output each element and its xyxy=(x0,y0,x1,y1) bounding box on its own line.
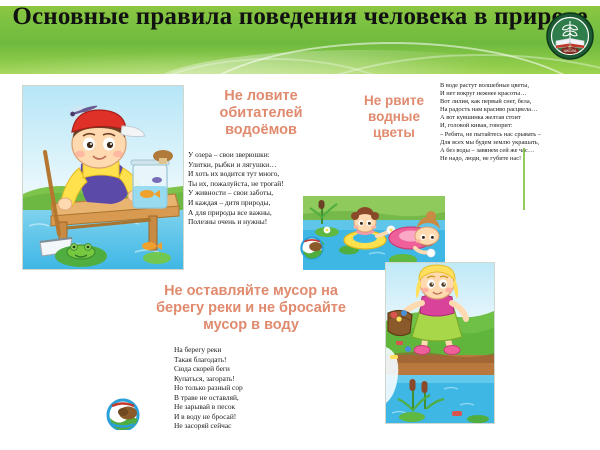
water-lily xyxy=(324,227,331,234)
heading-do-not-pick-flowers: Не рвите водные цветы xyxy=(348,93,440,141)
illustration-boy-fishing xyxy=(22,85,184,270)
slide-canvas: Основные правила поведения человека в пр… xyxy=(0,0,600,450)
right-lower-margin xyxy=(496,262,600,450)
illustration-girl-littering xyxy=(385,262,495,424)
eco-river-emblem-left xyxy=(106,398,140,432)
illustration-girls-in-pond xyxy=(303,196,445,270)
page-title: Основные правила поведения человека в пр… xyxy=(0,2,600,32)
poem-do-not-pick-flowers: В воде растут волшебные цветы, И нет вок… xyxy=(440,82,598,163)
bottom-margin xyxy=(0,430,600,450)
divider-vertical xyxy=(523,148,525,210)
heading-do-not-catch: Не ловите обитателей водоёмов xyxy=(186,88,336,139)
eco-river-emblem-right xyxy=(300,236,324,260)
svg-text:51: 51 xyxy=(568,46,572,50)
school-emblem: ШКОЛА 51 xyxy=(546,12,594,60)
trash-basket xyxy=(388,310,412,336)
heading-do-not-litter: Не оставляйте мусор на берегу реки и не … xyxy=(155,283,347,334)
left-margin xyxy=(0,74,18,450)
jar-with-fish xyxy=(131,160,169,208)
